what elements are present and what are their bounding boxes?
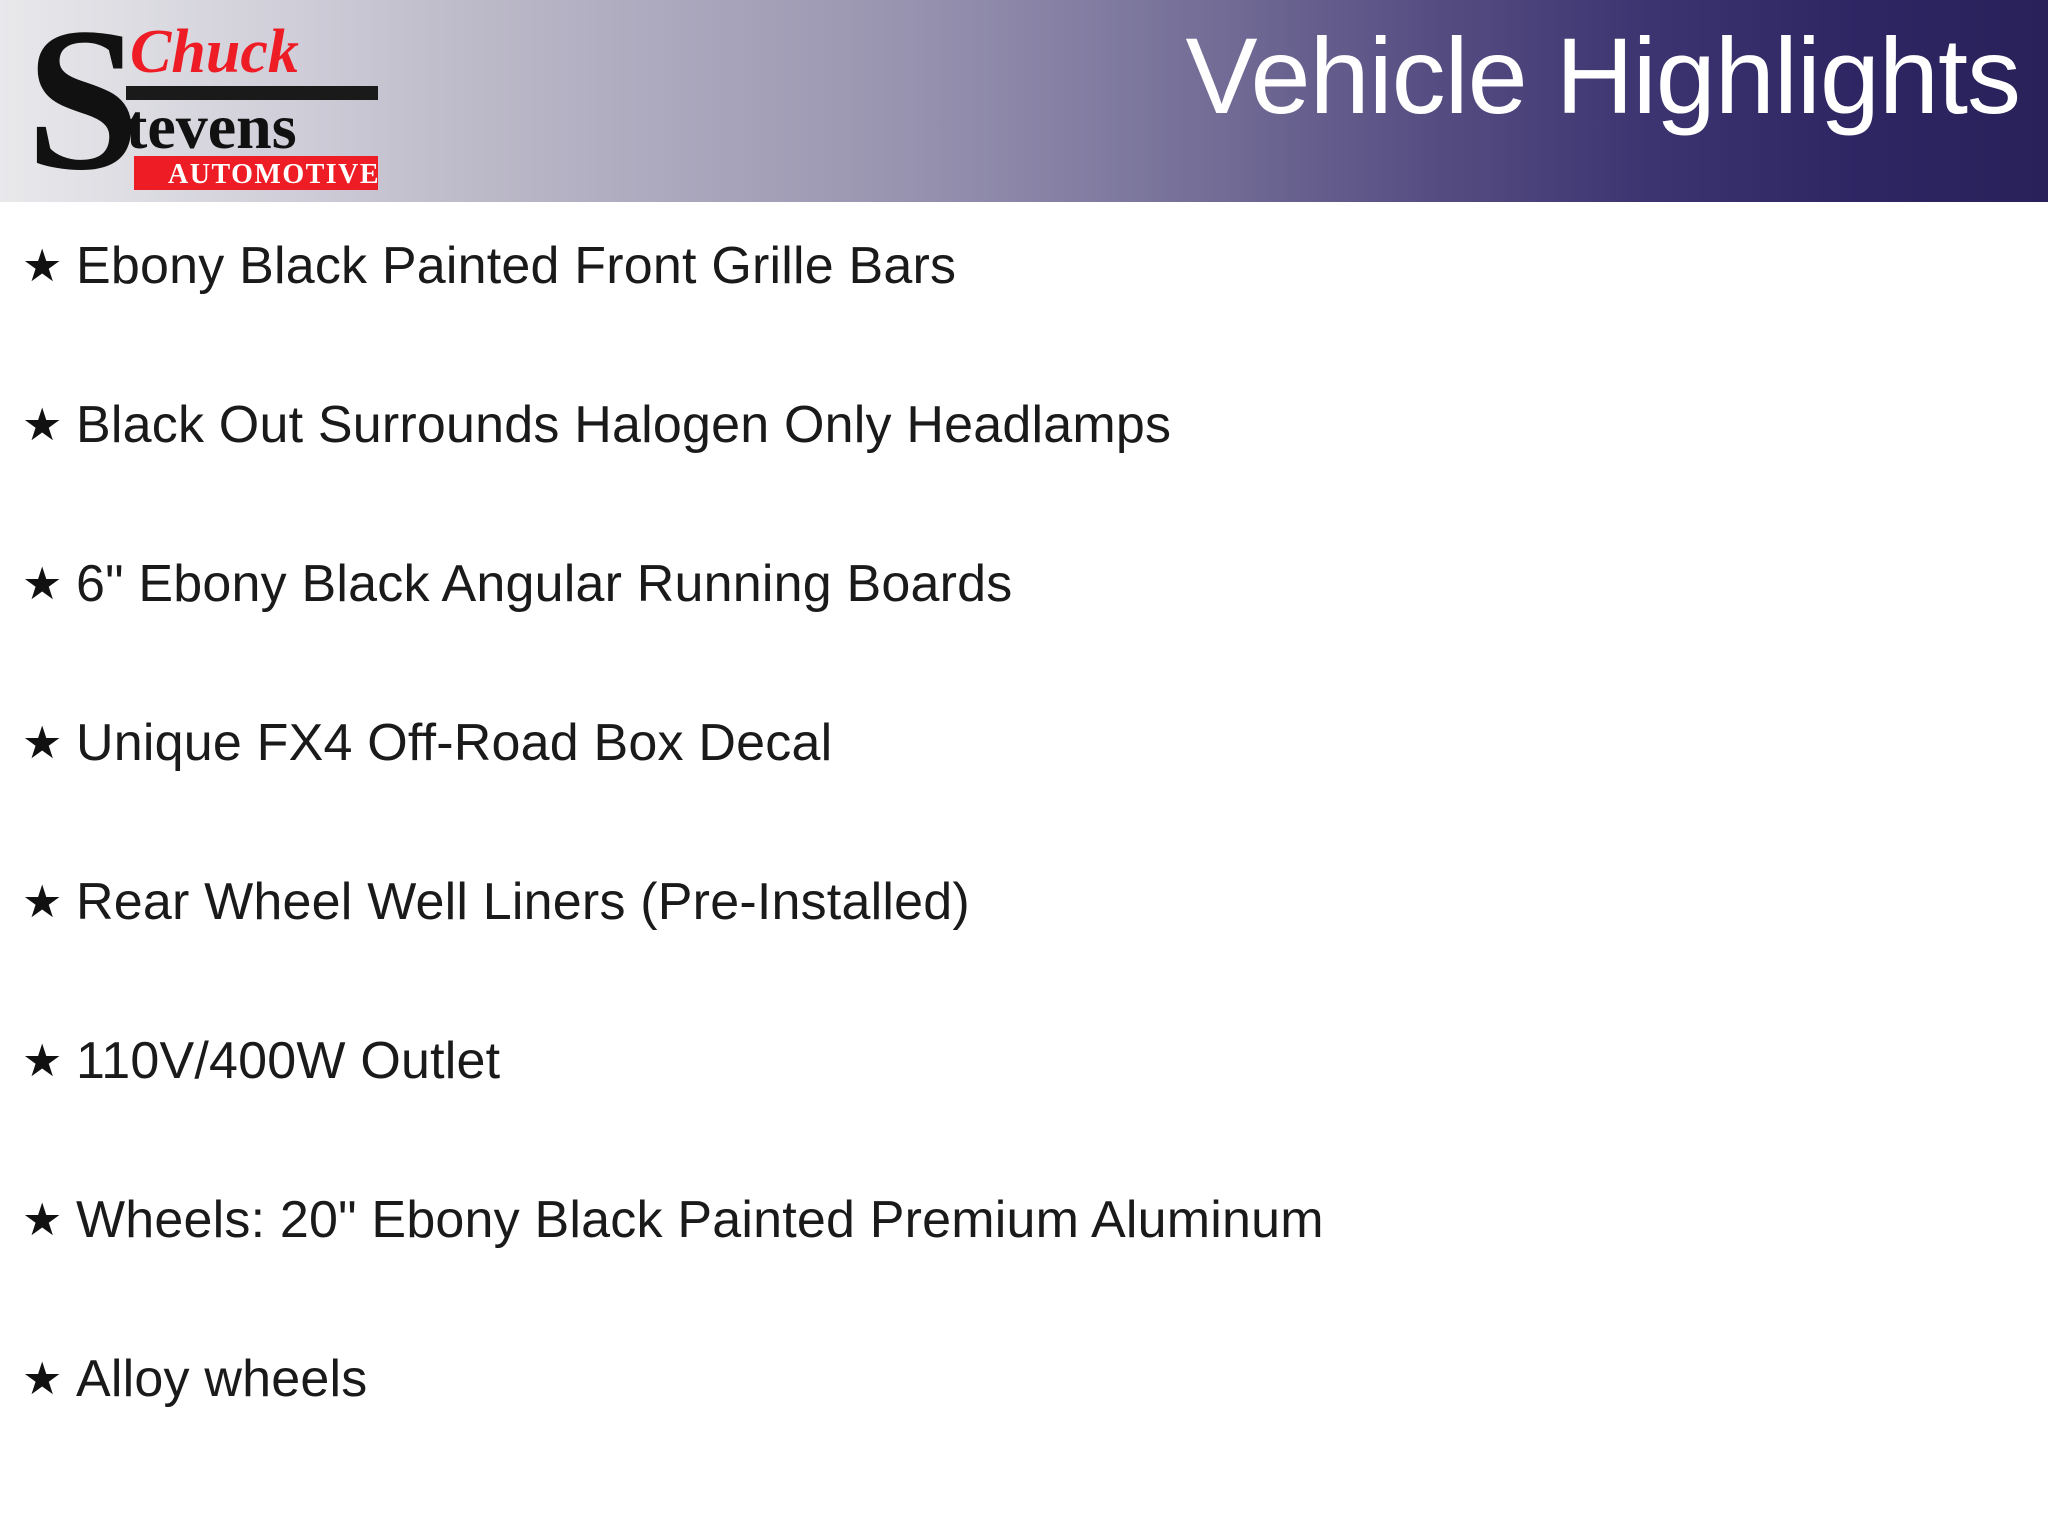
header-banner: S Chuck tevens AUTOMOTIVE Vehicle Highli… — [0, 0, 2048, 202]
star-bullet-icon: ★ — [22, 520, 76, 624]
highlight-label: Wheels: 20" Ebony Black Painted Premium … — [76, 1156, 2048, 1260]
list-item: ★ Unique FX4 Off-Road Box Decal — [0, 679, 2048, 838]
highlight-label: Rear Wheel Well Liners (Pre-Installed) — [76, 838, 2048, 942]
vehicle-highlights-slide: S Chuck tevens AUTOMOTIVE Vehicle Highli… — [0, 0, 2048, 1536]
list-item: ★ Wheels: 20" Ebony Black Painted Premiu… — [0, 1156, 2048, 1315]
chuck-stevens-automotive-logo-graphic: S Chuck tevens AUTOMOTIVE — [22, 8, 380, 194]
list-item: ★ 110V/400W Outlet — [0, 997, 2048, 1156]
star-bullet-icon: ★ — [22, 1315, 76, 1419]
vehicle-highlights-list: ★ Ebony Black Painted Front Grille Bars … — [0, 202, 2048, 1536]
highlight-label: Ebony Black Painted Front Grille Bars — [76, 202, 2048, 306]
logo-automotive-text: AUTOMOTIVE — [168, 159, 380, 190]
highlight-label: 110V/400W Outlet — [76, 997, 2048, 1101]
highlight-label: Alloy wheels — [76, 1315, 2048, 1419]
list-item: ★ Black Out Surrounds Halogen Only Headl… — [0, 361, 2048, 520]
highlight-label: Unique FX4 Off-Road Box Decal — [76, 679, 2048, 783]
logo-monogram-s: S — [26, 8, 140, 194]
star-bullet-icon: ★ — [22, 838, 76, 942]
list-item: ★ Ebony Black Painted Front Grille Bars — [0, 202, 2048, 361]
star-bullet-icon: ★ — [22, 1156, 76, 1260]
list-item: ★ Rear Wheel Well Liners (Pre-Installed) — [0, 838, 2048, 997]
highlight-label: 6" Ebony Black Angular Running Boards — [76, 520, 2048, 624]
logo-chuck-text: Chuck — [130, 18, 299, 86]
list-item: ★ Alloy wheels — [0, 1315, 2048, 1474]
star-bullet-icon: ★ — [22, 679, 76, 783]
list-item: ★ 6" Ebony Black Angular Running Boards — [0, 520, 2048, 679]
dealer-logo: S Chuck tevens AUTOMOTIVE — [22, 8, 380, 194]
star-bullet-icon: ★ — [22, 202, 76, 306]
page-title: Vehicle Highlights — [1185, 22, 2020, 130]
star-bullet-icon: ★ — [22, 997, 76, 1101]
star-bullet-icon: ★ — [22, 361, 76, 465]
logo-tevens-text: tevens — [126, 91, 297, 162]
highlight-label: Black Out Surrounds Halogen Only Headlam… — [76, 361, 2048, 465]
